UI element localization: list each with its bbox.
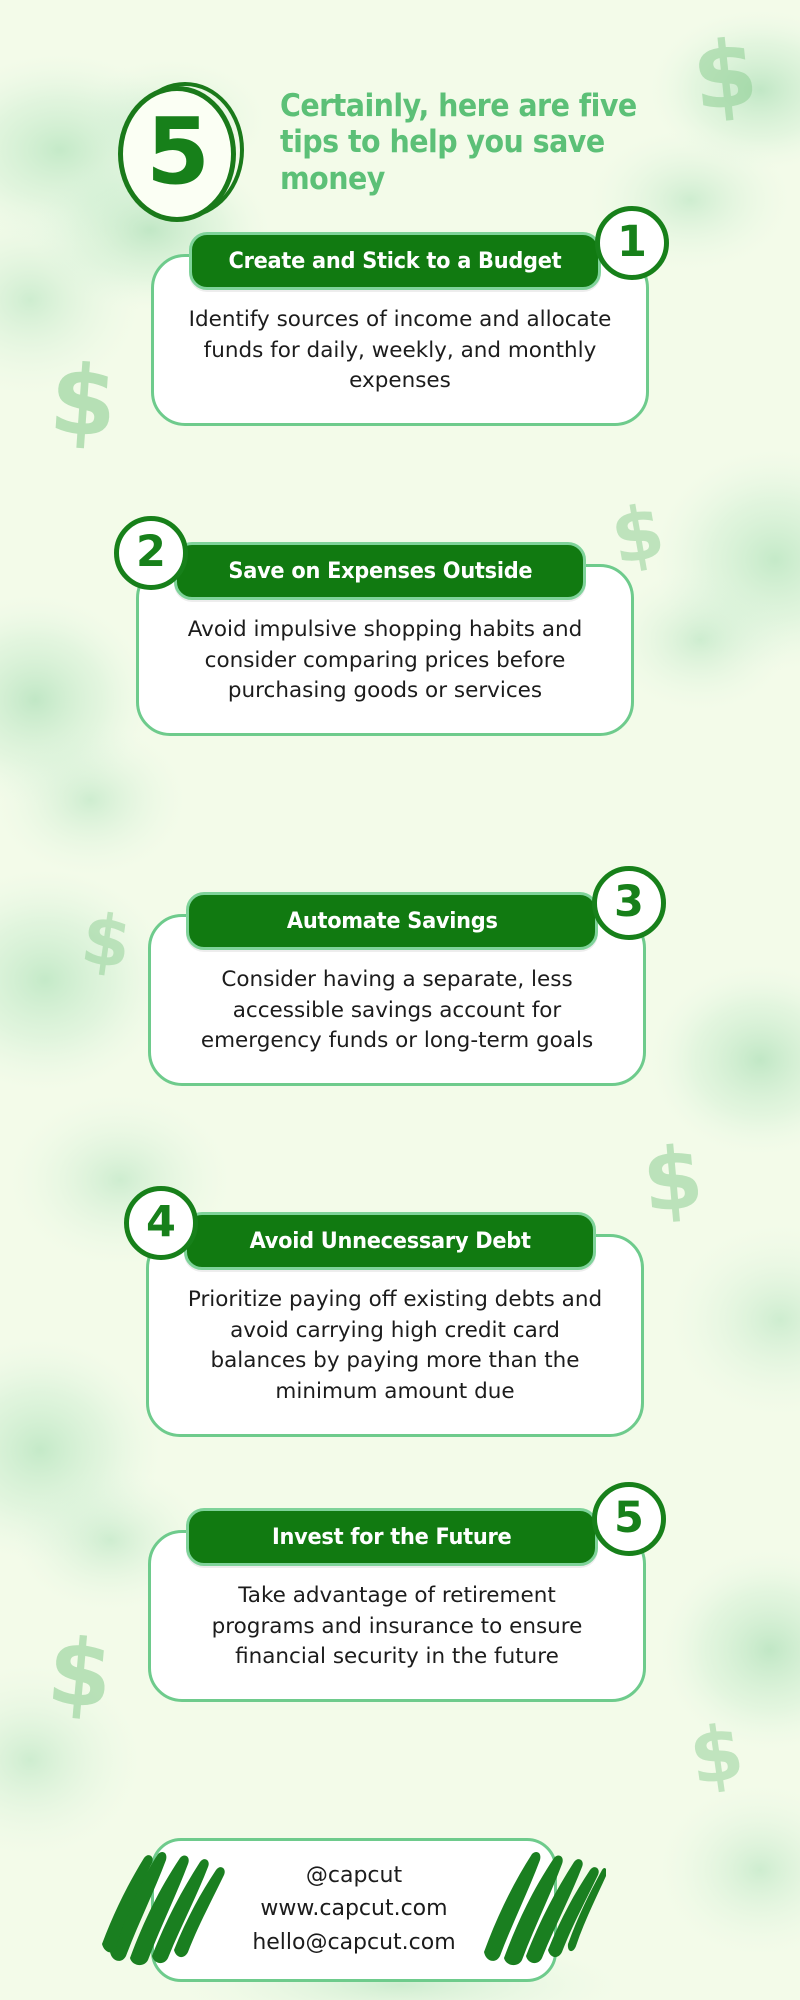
tip-card-title: Automate Savings [287, 908, 498, 934]
footer-contact-card: @capcut www.capcut.com hello@capcut.com [151, 1838, 557, 1982]
tip-card-description: Consider having a separate, less accessi… [185, 965, 609, 1057]
dollar-sign-icon: $ [639, 1128, 707, 1233]
tip-card-number-badge: 3 [592, 866, 666, 940]
tip-card-title: Create and Stick to a Budget [229, 248, 562, 274]
tip-card-description: Take advantage of retirement programs an… [185, 1581, 609, 1673]
dollar-sign-icon: $ [684, 1707, 749, 1802]
footer-handle: @capcut [174, 1859, 534, 1892]
tip-card-number: 3 [614, 881, 644, 924]
tip-card-number-badge: 2 [114, 516, 188, 590]
tip-card-description: Identify sources of income and allocate … [188, 305, 612, 397]
tip-card-number-badge: 5 [592, 1482, 666, 1556]
header-badge-number: 5 [146, 106, 208, 198]
tip-card-header: Save on Expenses Outside [174, 542, 586, 600]
footer-email[interactable]: hello@capcut.com [174, 1926, 534, 1959]
tip-card-number: 2 [136, 531, 166, 574]
header-number-badge: 5 [118, 82, 246, 222]
tip-card-header: Avoid Unnecessary Debt [184, 1212, 596, 1270]
tip-card-number-badge: 4 [124, 1186, 198, 1260]
tip-card-number: 4 [146, 1201, 176, 1244]
tip-card-title: Avoid Unnecessary Debt [249, 1228, 530, 1254]
header-badge-inner-circle: 5 [118, 86, 236, 222]
dollar-sign-icon: $ [46, 343, 120, 459]
tip-card-title: Invest for the Future [272, 1524, 511, 1550]
tip-card-number-badge: 1 [595, 206, 669, 280]
page-title: Certainly, here are five tips to help yo… [280, 88, 666, 197]
infographic-page: $ $ $ $ $ $ $ 5 Certainly, here are five… [0, 0, 800, 2000]
tip-card-description: Avoid impulsive shopping habits and cons… [173, 615, 597, 707]
tip-card-header: Create and Stick to a Budget [189, 232, 601, 290]
page-header: 5 Certainly, here are five tips to help … [0, 40, 800, 210]
tip-card-title: Save on Expenses Outside [228, 558, 532, 584]
dollar-sign-icon: $ [43, 1617, 116, 1729]
tip-card-header: Invest for the Future [186, 1508, 598, 1566]
tip-card-header: Automate Savings [186, 892, 598, 950]
footer-website[interactable]: www.capcut.com [174, 1892, 534, 1925]
tip-card-description: Prioritize paying off existing debts and… [183, 1285, 607, 1408]
tip-card-number: 1 [617, 221, 647, 264]
tip-card-number: 5 [614, 1497, 644, 1540]
dollar-sign-icon: $ [77, 897, 137, 985]
